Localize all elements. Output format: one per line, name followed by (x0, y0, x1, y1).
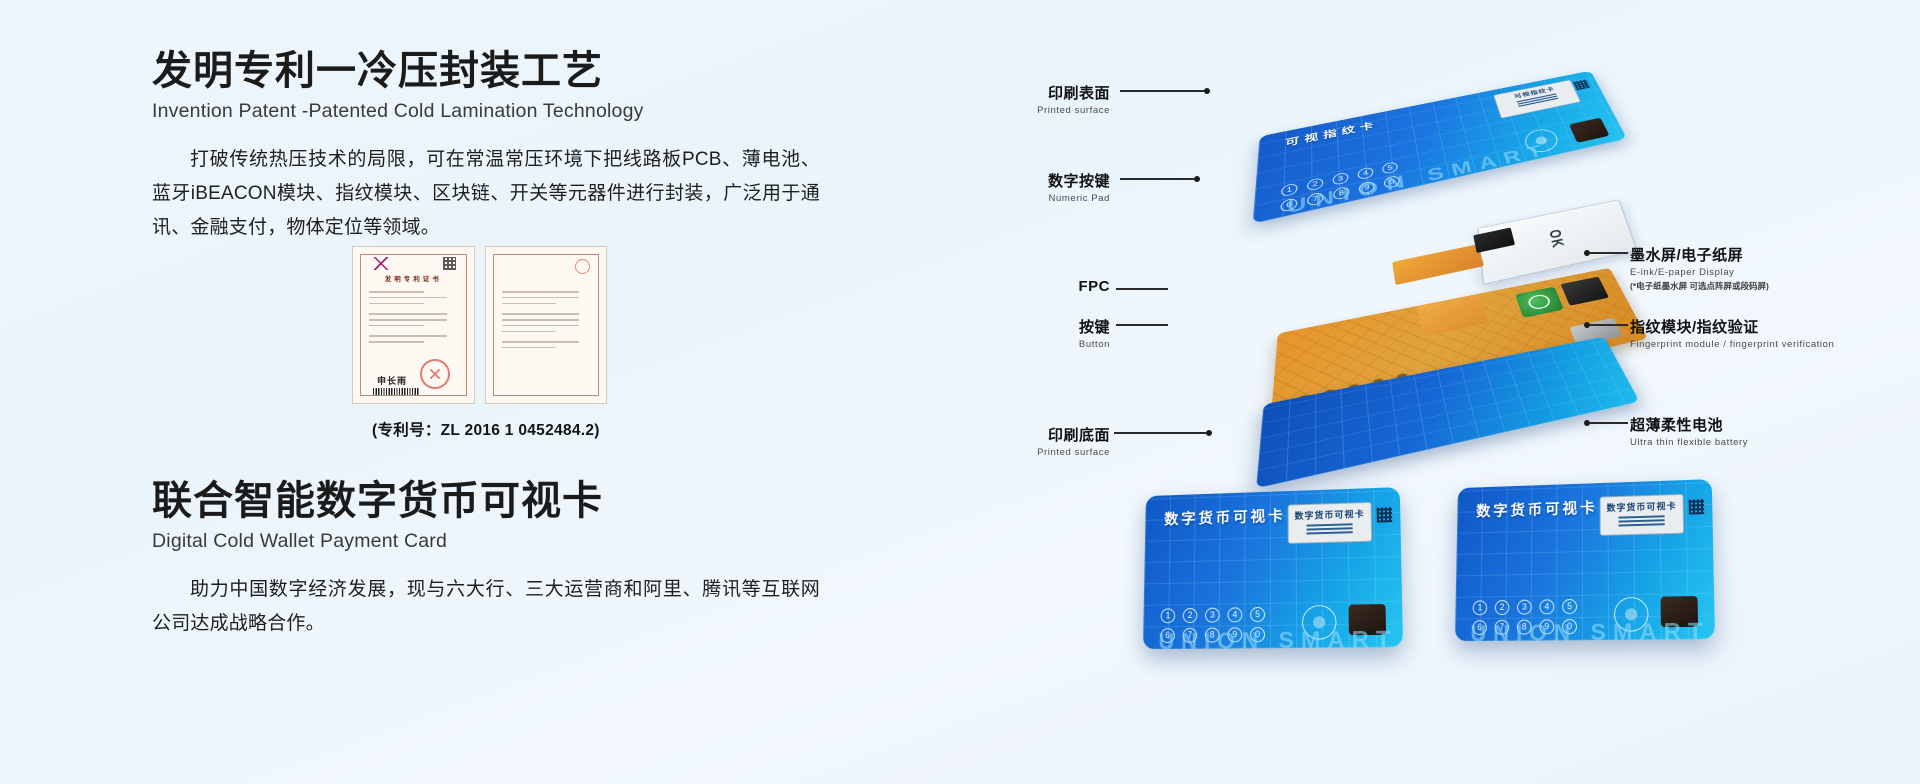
stamp-icon (575, 259, 590, 274)
callout-label-en: Fingerprint module / fingerprint verific… (1630, 339, 1900, 350)
leader-line (1120, 178, 1194, 180)
callout-eink-display: 墨水屏/电子纸屏 E-ink/E-paper Display (*电子纸墨水屏 … (1630, 244, 1900, 292)
card-top-layer: 可视指纹卡 可视指纹卡 12345 67890 UNION SMART (1253, 71, 1627, 224)
patent-number: (专利号：ZL 2016 1 0452484.2) (372, 418, 772, 440)
display-lines (1289, 523, 1371, 535)
callout-printed-surface-top: 印刷表面 Printed surface (1000, 82, 1110, 116)
callout-label-en: Ultra thin flexible battery (1630, 437, 1900, 448)
patent-title-en: Invention Patent -Patented Cold Laminati… (152, 100, 872, 123)
card-footer-text: UNION SMART (1470, 617, 1710, 641)
numeric-keypad-row1: 12345 (1473, 599, 1577, 615)
callout-label-cn: 数字按键 (1000, 170, 1110, 191)
leader-line (1590, 252, 1628, 254)
leader-line (1590, 422, 1628, 424)
callout-label-en: Numeric Pad (1000, 193, 1110, 204)
official-seal-icon (420, 359, 450, 389)
patent-body-text: 打破传统热压技术的局限，可在常温常压环境下把线路板PCB、薄电池、蓝牙iBEAC… (152, 143, 820, 244)
marketing-page: 发明专利一冷压封装工艺 Invention Patent -Patented C… (0, 0, 1920, 784)
callout-label-en: Button (1036, 339, 1110, 350)
callout-label-cn: 指纹模块/指纹验证 (1630, 316, 1900, 337)
product-cards-row: 数字货币可视卡 数字货币可视卡 12345 67890 UNION SMART … (1140, 482, 1760, 672)
callout-label-cn: 印刷表面 (1000, 82, 1110, 103)
card-footer-text: UNION SMART (1158, 625, 1398, 649)
callout-label-en: Printed surface (1000, 105, 1110, 116)
certificate-back (485, 246, 608, 404)
callout-fpc: FPC (1036, 278, 1110, 295)
qr-code-icon (443, 257, 456, 270)
leader-line (1114, 432, 1206, 434)
callout-label-cn: 墨水屏/电子纸屏 (1630, 244, 1900, 265)
card-brand-text: 数字货币可视卡 (1476, 497, 1598, 521)
callout-label-en: Printed surface (990, 447, 1110, 458)
certificate-front: 发明专利证书 申长雨 (352, 246, 475, 404)
certificate-text-lines (369, 291, 458, 347)
display-lines (1601, 515, 1683, 527)
leader-line (1590, 324, 1628, 326)
callout-printed-surface-bottom: 印刷底面 Printed surface (990, 424, 1110, 458)
numeric-keypad-row1: 12345 (1161, 607, 1265, 623)
emblem-icon (373, 257, 389, 270)
wallet-body-text: 助力中国数字经济发展，现与六大行、三大运营商和阿里、腾讯等互联网公司达成战略合作… (152, 573, 820, 641)
certificate-signature: 申长雨 (377, 374, 407, 387)
patent-title-cn: 发明专利一冷压封装工艺 (152, 48, 872, 94)
callout-button: 按键 Button (1036, 316, 1110, 350)
leader-line (1120, 90, 1204, 92)
eink-glyph: OK (1545, 228, 1568, 250)
wallet-title-cn: 联合智能数字货币可视卡 (152, 478, 872, 524)
display-title: 数字货币可视卡 (1601, 499, 1683, 514)
wallet-title-en: Digital Cold Wallet Payment Card (152, 530, 872, 553)
patent-section: 发明专利一冷压封装工艺 Invention Patent -Patented C… (152, 48, 872, 244)
card-display-window: 数字货币可视卡 (1600, 494, 1684, 536)
certificate-title: 发明专利证书 (353, 273, 474, 283)
qr-code-icon (1689, 499, 1705, 514)
callout-label-note: (*电子纸墨水屏 可选点阵屏或段码屏) (1630, 280, 1900, 292)
leader-line (1116, 288, 1168, 290)
callout-label-cn: 按键 (1036, 316, 1110, 337)
patent-certificates: 发明专利证书 申长雨 (352, 246, 607, 404)
display-title: 数字货币可视卡 (1289, 507, 1371, 522)
callout-fingerprint-module: 指纹模块/指纹验证 Fingerprint module / fingerpri… (1630, 316, 1900, 350)
fpc-flex-cable (1392, 244, 1484, 285)
qr-code-icon (1377, 507, 1393, 522)
leader-line (1116, 324, 1168, 326)
digital-wallet-card-1: 数字货币可视卡 数字货币可视卡 12345 67890 UNION SMART (1143, 487, 1403, 649)
barcode-icon (373, 388, 419, 395)
callout-label-cn: FPC (1036, 278, 1110, 295)
callout-flexible-battery: 超薄柔性电池 Ultra thin flexible battery (1630, 414, 1900, 448)
certificate-text-lines (502, 291, 591, 353)
card-display-window: 数字货币可视卡 (1288, 502, 1372, 544)
callout-label-cn: 超薄柔性电池 (1630, 414, 1900, 435)
callout-label-en: E-ink/E-paper Display (1630, 267, 1900, 278)
callout-numeric-pad: 数字按键 Numeric Pad (1000, 170, 1110, 204)
wallet-section: 联合智能数字货币可视卡 Digital Cold Wallet Payment … (152, 478, 872, 641)
callout-label-cn: 印刷底面 (990, 424, 1110, 445)
card-brand-text: 数字货币可视卡 (1164, 505, 1286, 529)
digital-wallet-card-2: 数字货币可视卡 数字货币可视卡 12345 67890 UNION SMART (1455, 479, 1715, 641)
